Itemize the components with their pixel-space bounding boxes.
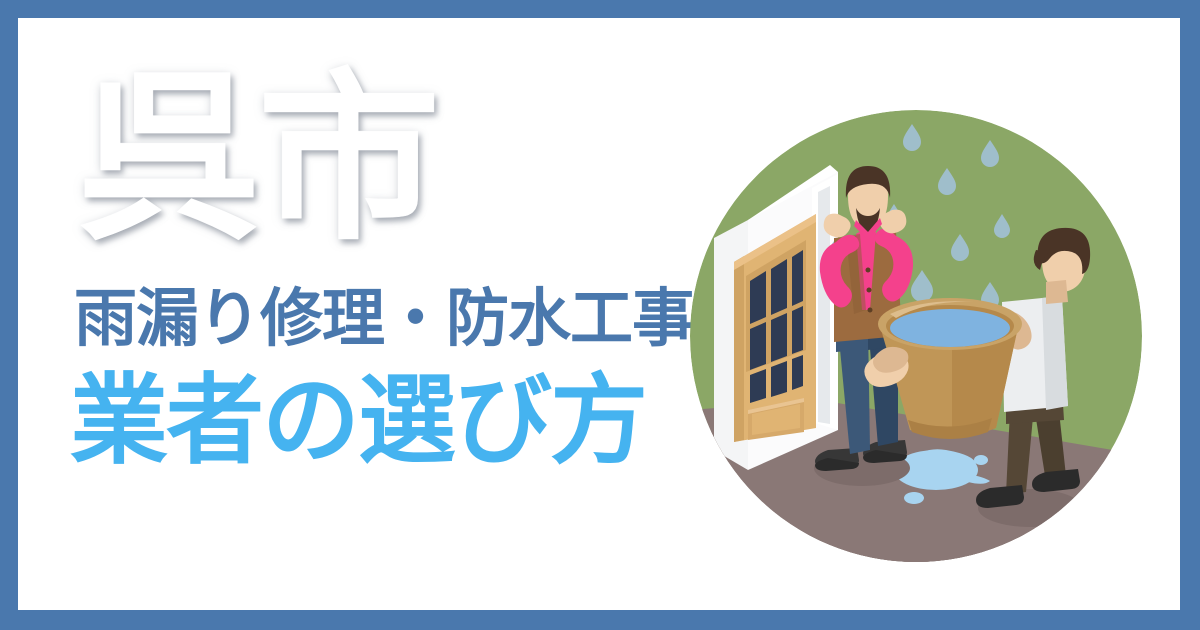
rain-leak-illustration — [690, 110, 1142, 562]
banner-card: 呉市 雨漏り修理・防水工事 業者の選び方 — [0, 0, 1200, 630]
service-subtitle: 雨漏り修理・防水工事 — [74, 288, 758, 351]
page-title: 業者の選び方 — [70, 371, 758, 469]
bucket-water — [890, 309, 1010, 347]
city-name-title: 呉市 — [78, 68, 758, 250]
text-block: 呉市 雨漏り修理・防水工事 業者の選び方 — [58, 68, 758, 469]
illustration-scene — [690, 110, 1142, 562]
